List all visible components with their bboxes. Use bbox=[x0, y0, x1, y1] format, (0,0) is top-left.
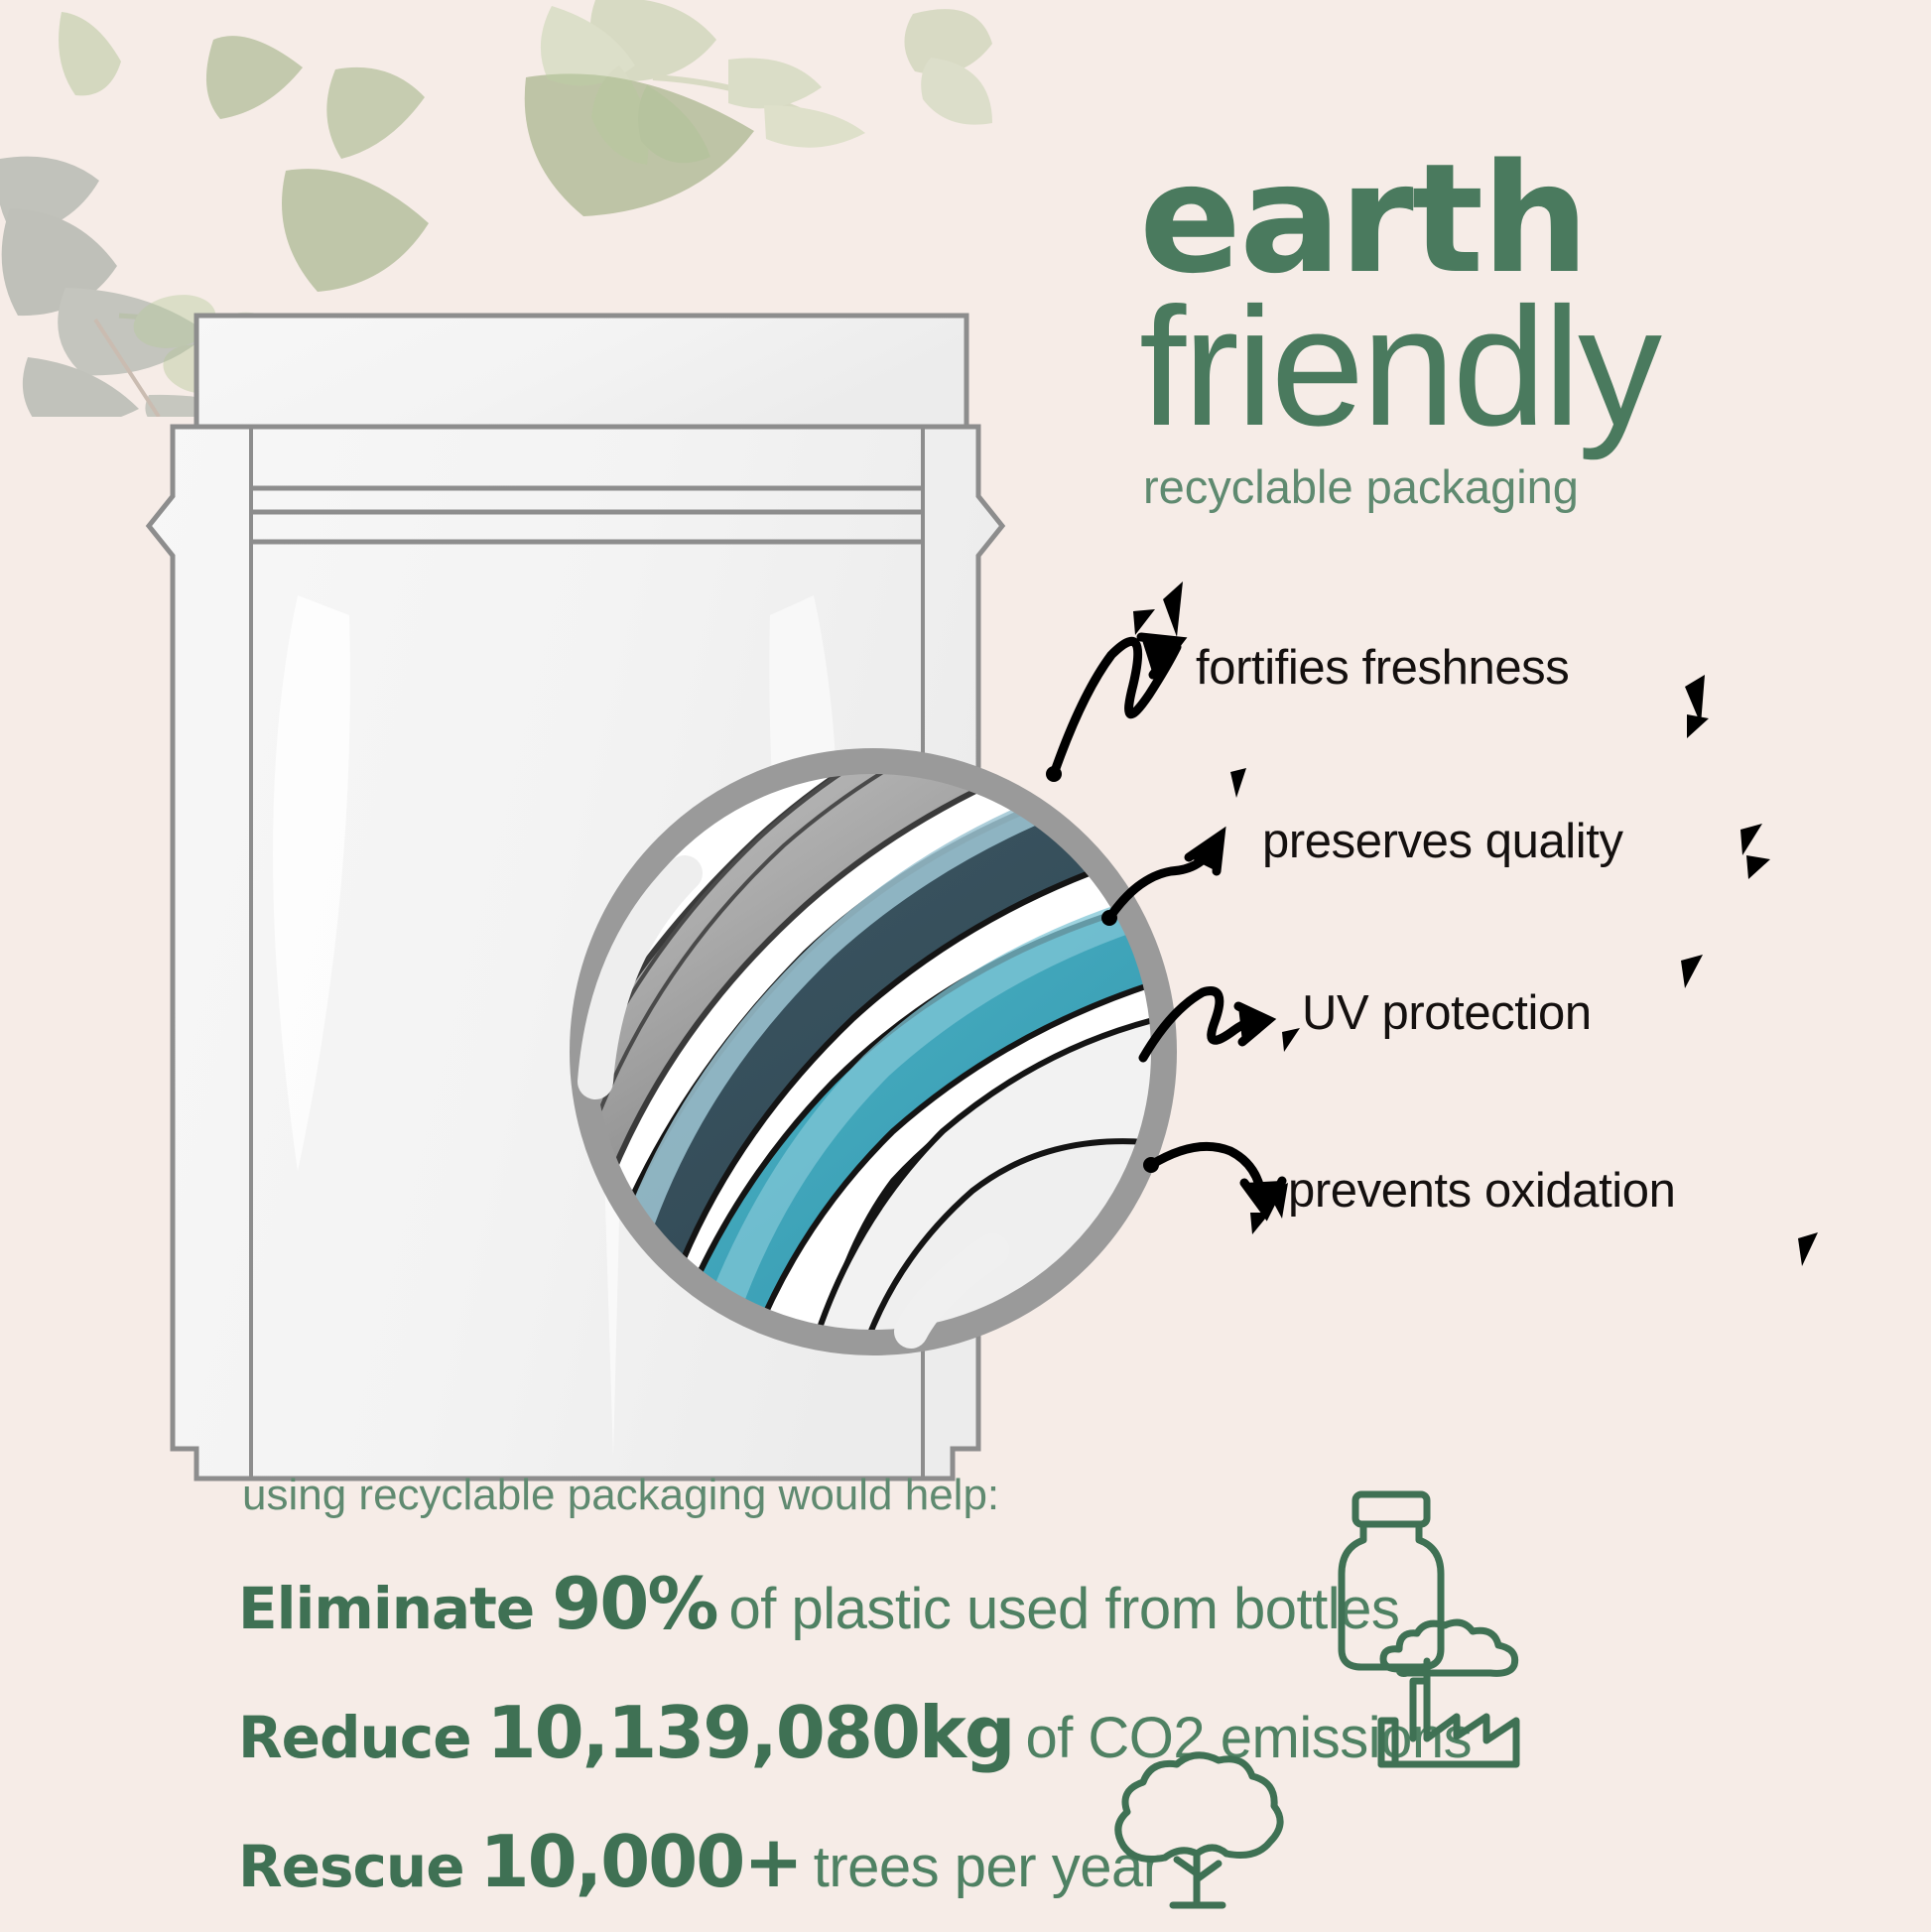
stat-value: 10,000+ bbox=[480, 1820, 802, 1903]
feature-label-prevents-oxidation: prevents oxidation bbox=[1288, 1163, 1676, 1219]
headline-line-2: friendly bbox=[1139, 289, 1913, 446]
headline-subtitle: recyclable packaging bbox=[1143, 459, 1913, 514]
feature-label-fortifies-freshness: fortifies freshness bbox=[1196, 640, 1569, 696]
stat-row-rescue: Rescue 10,000+ trees per year bbox=[238, 1820, 1627, 1903]
stat-value: 10,139,080kg bbox=[487, 1691, 1014, 1774]
stat-verb: Eliminate bbox=[238, 1575, 534, 1642]
stat-verb: Rescue bbox=[238, 1833, 464, 1900]
stat-value: 90% bbox=[552, 1562, 716, 1645]
stat-tail: of plastic used from bottles bbox=[729, 1576, 1400, 1642]
stat-verb: Reduce bbox=[238, 1704, 471, 1771]
factory-icon bbox=[1369, 1617, 1528, 1776]
infographic-canvas: earth friendly recyclable packaging fort… bbox=[0, 0, 1931, 1932]
headline-block: earth friendly recyclable packaging bbox=[1139, 149, 1913, 514]
headline-line-1: earth bbox=[1139, 149, 1913, 289]
tree-icon bbox=[1101, 1746, 1290, 1920]
feature-label-preserves-quality: preserves quality bbox=[1262, 814, 1623, 869]
feature-label-uv-protection: UV protection bbox=[1302, 985, 1592, 1041]
